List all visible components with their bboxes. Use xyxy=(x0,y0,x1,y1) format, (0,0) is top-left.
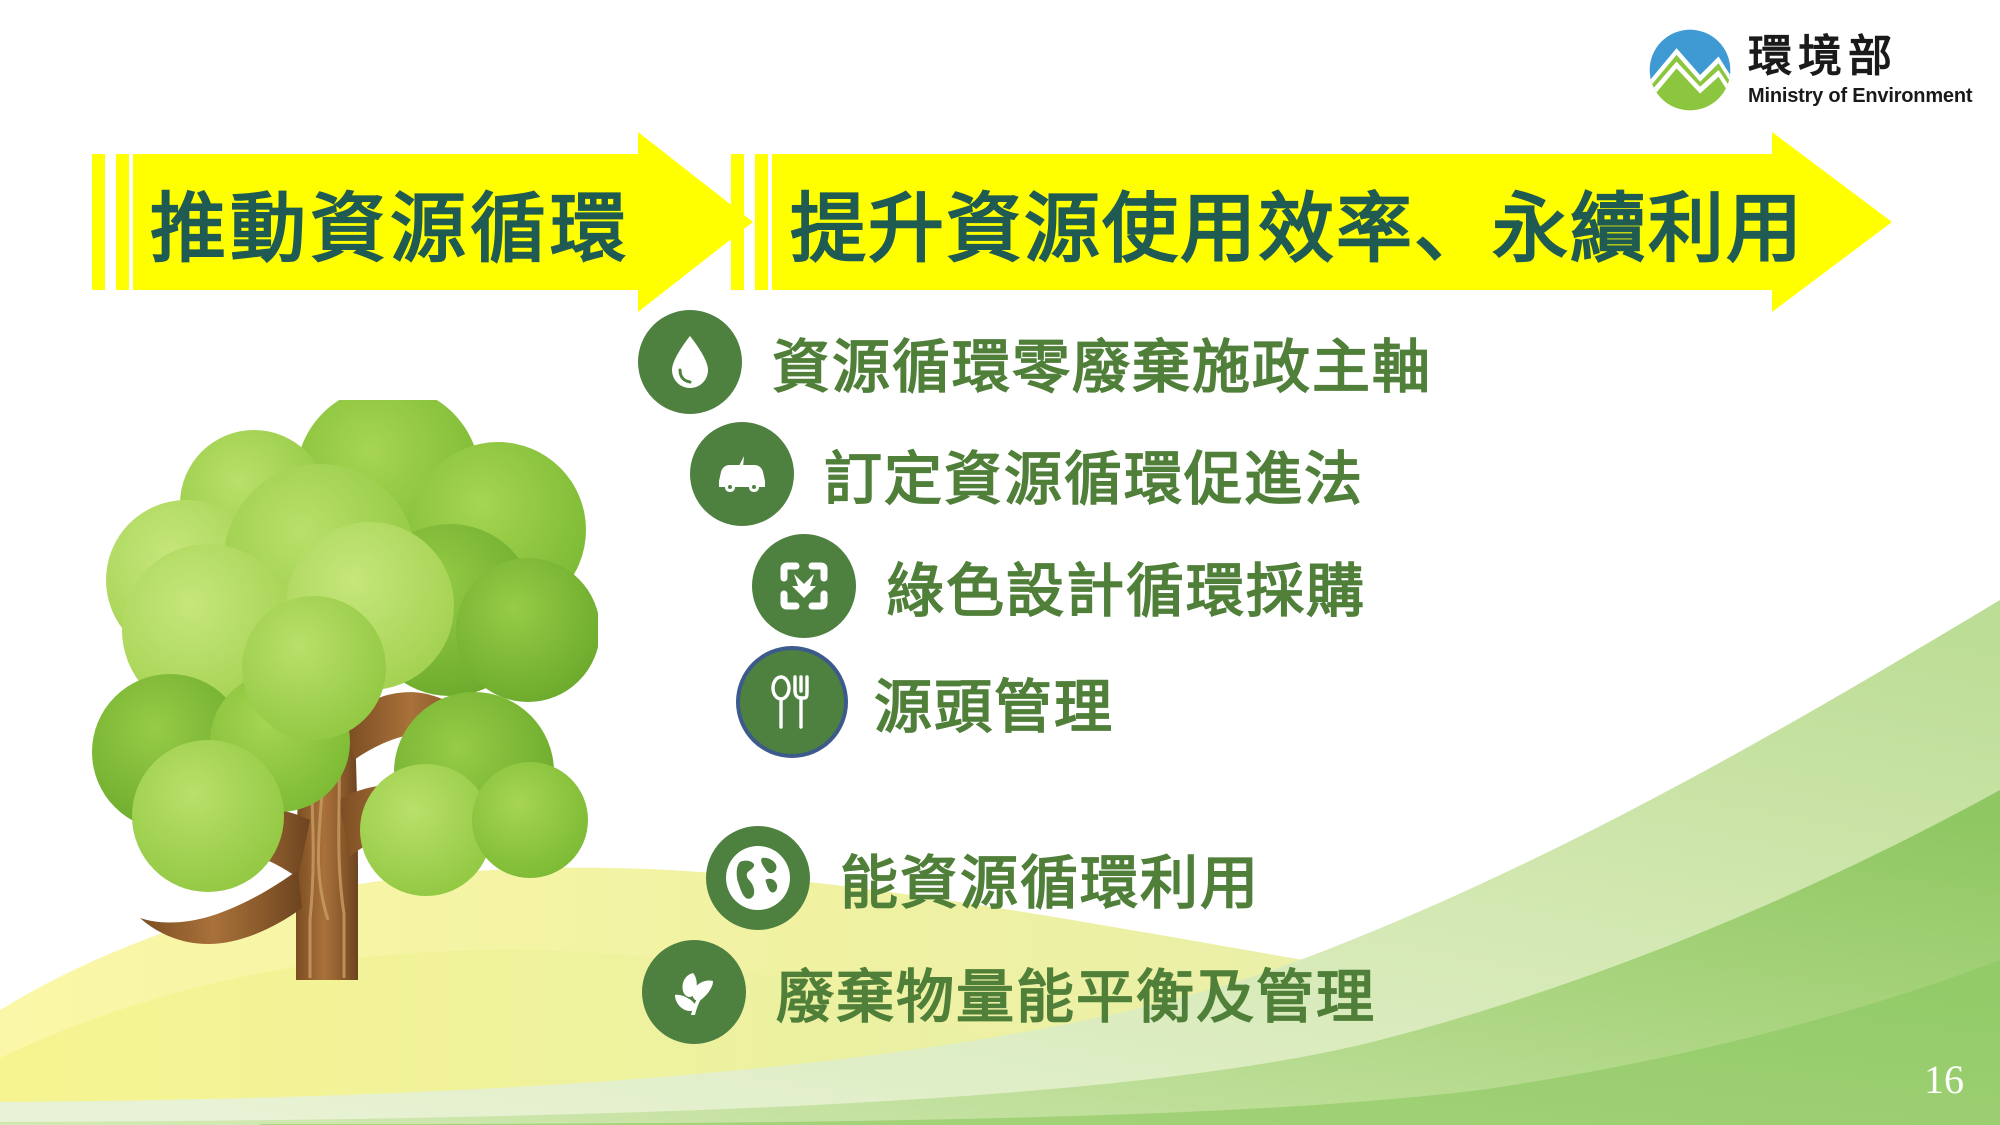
recycle-symbol-icon xyxy=(752,534,856,638)
list-item-label: 訂定資源循環促進法 xyxy=(824,432,1364,516)
list-item[interactable]: 能資源循環利用 xyxy=(706,826,1260,930)
leaf-sprout-icon xyxy=(642,940,746,1044)
list-item[interactable]: 源頭管理 xyxy=(740,650,1114,754)
list-item[interactable]: 資源循環零廢棄施政主軸 xyxy=(638,310,1432,414)
list-item-label: 廢棄物量能平衡及管理 xyxy=(776,950,1376,1034)
list-item[interactable]: 廢棄物量能平衡及管理 xyxy=(642,940,1376,1044)
list-item-label: 綠色設計循環採購 xyxy=(886,544,1366,628)
page-number: 16 xyxy=(1924,1056,1964,1103)
bullet-list: 資源循環零廢棄施政主軸 訂定資源循環促進法 xyxy=(0,0,2000,1125)
list-item-label: 能資源循環利用 xyxy=(840,836,1260,920)
list-item-label: 資源循環零廢棄施政主軸 xyxy=(772,320,1432,404)
list-item[interactable]: 訂定資源循環促進法 xyxy=(690,422,1364,526)
slide-canvas: 環境部 Ministry of Environment 推動資源循環 提升資源使… xyxy=(0,0,2000,1125)
utensils-icon xyxy=(740,650,844,754)
globe-icon xyxy=(706,826,810,930)
list-item[interactable]: 綠色設計循環採購 xyxy=(752,534,1366,638)
list-item-label: 源頭管理 xyxy=(874,660,1114,744)
electric-car-icon xyxy=(690,422,794,526)
water-drop-icon xyxy=(638,310,742,414)
